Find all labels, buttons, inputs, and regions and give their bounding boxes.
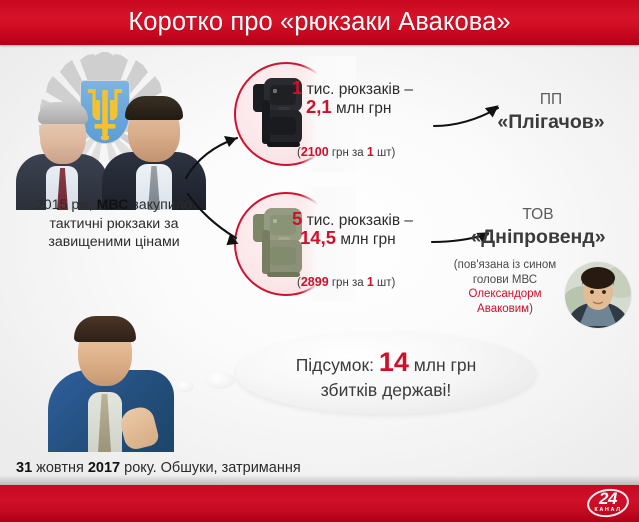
unit-count-2: 1 [367,275,374,289]
summary-suffix: млн грн [409,355,476,375]
intro-year: 2015 рік, [36,197,97,213]
purchase-2-qty: 5 [292,208,302,229]
firm-1-kind: ПП [466,90,636,110]
unit-mid-2: грн за [329,277,367,289]
purchase-1-line-2: 2,1 млн грн [306,97,391,119]
official-photo-bottom [48,300,174,452]
summary-amount: 14 [379,347,409,377]
infographic-poster: Коротко про «рюкзаки Авакова» [0,0,639,522]
summary-line-1: Підсумок: 14 млн грн [236,350,536,378]
summary-text: Підсумок: 14 млн грн збитків державі! [236,350,536,403]
intro-agency: МВС [97,197,129,213]
purchase-2-total-text: млн грн [336,231,396,248]
channel-24-logo: 24 КАНАЛ [585,488,631,520]
note-person-last: Аваковим [477,303,529,315]
purchase-1-unit-price: (2100 грн за 1 шт) [297,145,395,159]
footer-bar [0,485,639,522]
unit-price-2: 2899 [301,275,329,289]
page-title: Коротко про «рюкзаки Авакова» [0,0,639,45]
footer-year: 2017 [88,460,120,476]
firm-2-name: «Дніпровенд» [438,225,638,250]
unit-close-1: шт) [374,147,396,159]
officials-photo [6,92,206,210]
purchase-2-unit-price: (2899 грн за 1 шт) [297,275,395,289]
firm-1-name: «Плігачов» [466,110,636,135]
avatar-oleksandr-avakov [565,262,631,328]
footer-rest: року. Обшуки, затримання [120,460,301,476]
purchase-1-qty: 1 [292,77,302,98]
purchase-1-total-text: млн грн [332,100,392,117]
purchase-2-line-2: 14,5 млн грн [300,228,396,250]
unit-close-2: шт) [374,277,396,289]
summary-prefix: Підсумок: [296,355,379,375]
purchase-1-total: 2,1 [306,96,332,117]
firm-2-relation-note: (пов'язана із сином голови МВС Олександо… [430,258,580,316]
footer-day: 31 [16,460,32,476]
purchase-2-total: 14,5 [300,227,336,248]
footer-date-note: 31 жовтня 2017 року. Обшуки, затримання [16,460,301,476]
arrow-head-down-icon [223,234,240,250]
header-bar: Коротко про «рюкзаки Авакова» [0,0,639,45]
note-close: ) [529,303,533,315]
firm-1: ПП «Плігачов» [466,90,636,135]
avatar-photo [565,262,631,328]
unit-price-1: 2100 [301,145,329,159]
flow-arrows-left [180,120,260,250]
footer-divider [0,475,639,485]
unit-count-1: 1 [367,145,374,159]
unit-mid-1: грн за [329,147,367,159]
note-line-2: голови МВС [430,273,580,288]
official-photo-left [16,96,108,210]
summary-line-2: збитків державі! [236,378,536,403]
logo-number: 24 [585,490,631,507]
bubble-dot-medium [205,372,235,389]
logo-word: КАНАЛ [585,507,631,513]
note-person-first: Олександорм [430,287,580,302]
bubble-dot-small [176,381,194,392]
footer-month: жовтня [32,460,88,476]
note-line-1: (пов'язана із сином [430,258,580,273]
firm-2: ТОВ «Дніпровенд» [438,205,638,250]
firm-2-kind: ТОВ [438,205,638,225]
